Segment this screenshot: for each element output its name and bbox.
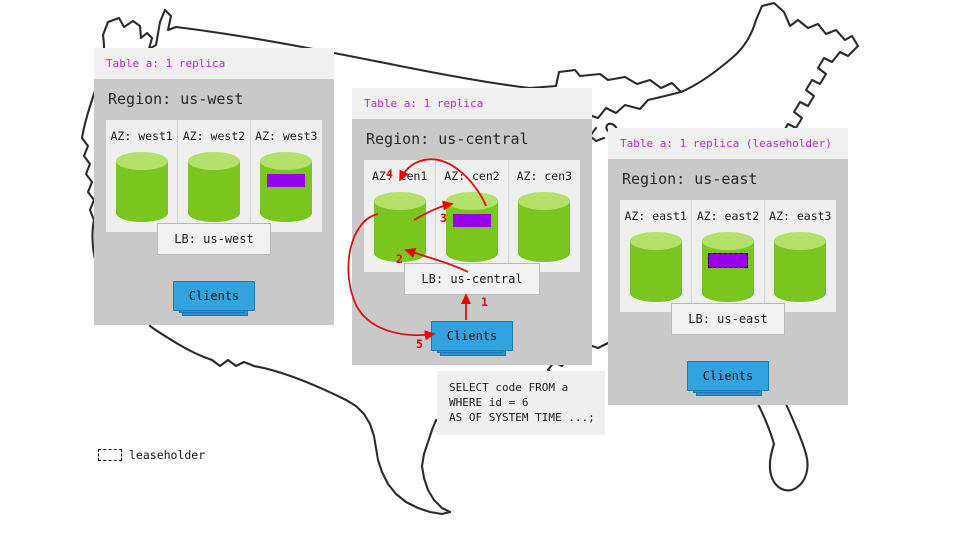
az-cell-east2[interactable]: AZ: east2 [692, 200, 764, 312]
cylinder-top [116, 152, 168, 170]
legend: leaseholder [98, 448, 205, 462]
range-replica-west3 [267, 174, 305, 187]
region-header-us-west: Table a: 1 replica [94, 48, 334, 79]
clients-label-us-central[interactable]: Clients [431, 321, 514, 351]
flow-step-number-3: 3 [440, 211, 447, 225]
az-row-us-west: AZ: west1 AZ: west2 [106, 120, 322, 232]
sql-query-note: SELECT code FROM a WHERE id = 6 AS OF SY… [437, 371, 605, 435]
range-replica-leaseholder-east2 [708, 253, 748, 268]
az-label-east3: AZ: east3 [769, 209, 831, 223]
cylinder-top [518, 192, 570, 210]
cylinder-top [260, 152, 312, 170]
az-cell-east3[interactable]: AZ: east3 [765, 200, 836, 312]
load-balancer-us-central[interactable]: LB: us-central [404, 263, 539, 295]
clients-stack-us-east[interactable]: Clients [687, 361, 770, 391]
replica-cylinder-cen3[interactable] [518, 192, 570, 260]
clients-label-us-east[interactable]: Clients [687, 361, 770, 391]
replica-cylinder-cen1[interactable] [374, 192, 426, 260]
region-body-us-west: Region: us-west AZ: west1 AZ: west2 [94, 79, 334, 325]
az-cell-west3[interactable]: AZ: west3 [251, 120, 322, 232]
replica-cylinder-west2[interactable] [188, 152, 240, 220]
region-title-us-west: Region: us-west [106, 79, 322, 120]
flow-step-number-5: 5 [416, 337, 423, 351]
cylinder-top [446, 192, 498, 210]
az-label-west3: AZ: west3 [255, 129, 317, 143]
replica-cylinder-cen2[interactable] [446, 192, 498, 260]
range-replica-cen2 [453, 214, 491, 227]
az-label-west2: AZ: west2 [183, 129, 245, 143]
replica-cylinder-east2[interactable] [702, 232, 754, 300]
legend-label: leaseholder [129, 448, 205, 462]
az-label-east2: AZ: east2 [697, 209, 759, 223]
az-label-east1: AZ: east1 [625, 209, 687, 223]
az-label-cen2: AZ: cen2 [444, 169, 499, 183]
replica-cylinder-west1[interactable] [116, 152, 168, 220]
region-panel-us-east: Table a: 1 replica (leaseholder) Region:… [608, 128, 848, 405]
flow-step-number-1: 1 [481, 295, 488, 309]
az-label-cen3: AZ: cen3 [517, 169, 572, 183]
region-header-us-east: Table a: 1 replica (leaseholder) [608, 128, 848, 159]
diagram-canvas: Table a: 1 replica Region: us-west AZ: w… [0, 0, 960, 540]
load-balancer-us-west[interactable]: LB: us-west [157, 223, 270, 255]
region-body-us-central: Region: us-central AZ: cen1 AZ: cen2 [352, 119, 592, 365]
cylinder-top [702, 232, 754, 250]
az-cell-west2[interactable]: AZ: west2 [178, 120, 250, 232]
region-header-us-central: Table a: 1 replica [352, 88, 592, 119]
replica-cylinder-east1[interactable] [630, 232, 682, 300]
az-cell-cen2[interactable]: AZ: cen2 [436, 160, 508, 272]
replica-cylinder-west3[interactable] [260, 152, 312, 220]
region-title-us-central: Region: us-central [364, 119, 580, 160]
region-body-us-east: Region: us-east AZ: east1 AZ: east2 [608, 159, 848, 405]
flow-step-number-4: 4 [386, 167, 393, 181]
cylinder-top [630, 232, 682, 250]
clients-label-us-west[interactable]: Clients [173, 281, 256, 311]
az-label-west1: AZ: west1 [111, 129, 173, 143]
cylinder-top [374, 192, 426, 210]
az-row-us-east: AZ: east1 AZ: east2 [620, 200, 836, 312]
clients-stack-us-west[interactable]: Clients [173, 281, 256, 311]
az-cell-cen3[interactable]: AZ: cen3 [509, 160, 580, 272]
load-balancer-us-east[interactable]: LB: us-east [671, 303, 784, 335]
az-cell-east1[interactable]: AZ: east1 [620, 200, 692, 312]
az-label-cen1: AZ: cen1 [372, 169, 427, 183]
region-title-us-east: Region: us-east [620, 159, 836, 200]
region-panel-us-west: Table a: 1 replica Region: us-west AZ: w… [94, 48, 334, 325]
cylinder-top [774, 232, 826, 250]
region-panel-us-central: Table a: 1 replica Region: us-central AZ… [352, 88, 592, 365]
dashed-rectangle-icon [98, 449, 122, 461]
az-cell-west1[interactable]: AZ: west1 [106, 120, 178, 232]
flow-step-number-2: 2 [396, 252, 403, 266]
cylinder-top [188, 152, 240, 170]
clients-stack-us-central[interactable]: Clients [431, 321, 514, 351]
replica-cylinder-east3[interactable] [774, 232, 826, 300]
